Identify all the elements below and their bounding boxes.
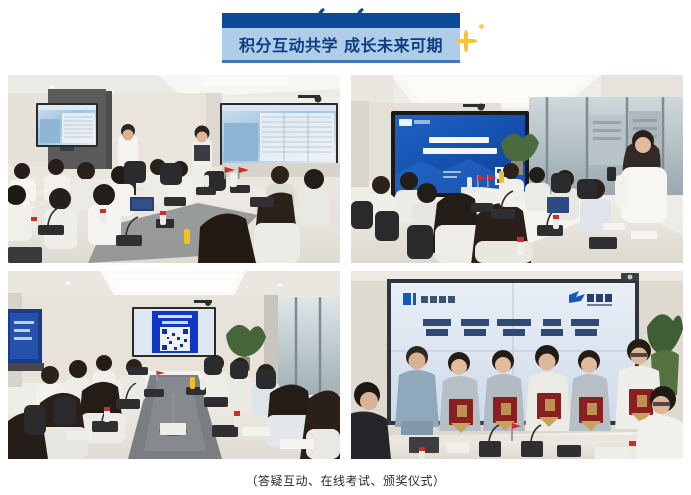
banner-title: 积分互动共学 成长未来可期 — [222, 28, 460, 60]
sparkle-icon — [455, 22, 489, 56]
banner-top-strip — [222, 13, 460, 28]
photo-thanks-slide — [351, 75, 683, 263]
photo-grid — [8, 75, 683, 460]
photo-online-exam — [8, 271, 340, 459]
photo-grid-caption: （答疑互动、在线考试、颁奖仪式） — [0, 472, 691, 489]
sparkle-dot-shape — [479, 24, 484, 29]
photo-qa-session — [8, 75, 340, 263]
header-banner: ‘ ‘ 积分互动共学 成长未来可期 — [222, 13, 460, 63]
photo-award-ceremony — [351, 271, 683, 459]
sparkle-star-shape — [455, 30, 477, 52]
banner-underline — [222, 60, 460, 63]
